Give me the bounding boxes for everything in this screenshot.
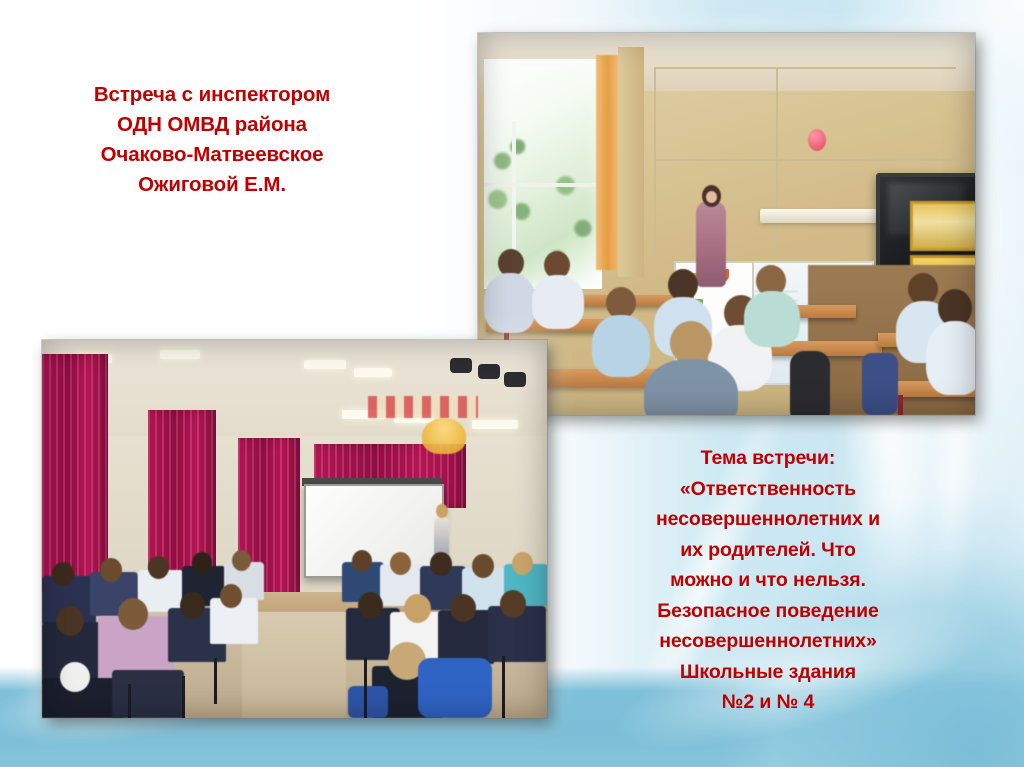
classroom-photo-content (478, 33, 975, 415)
meeting-title: Встреча с инспектором ОДН ОМВД района Оч… (22, 80, 402, 200)
meeting-topic-line-6: Безопасное поведение (558, 596, 978, 627)
meeting-title-line-1: Встреча с инспектором (22, 80, 402, 110)
meeting-title-line-3: Очаково-Матвеевское (22, 140, 402, 170)
auditorium-photo-content (42, 340, 547, 718)
meeting-topic-line-1: Тема встречи: (558, 443, 978, 474)
meeting-topic-line-3: несовершеннолетних и (558, 504, 978, 535)
classroom-photo (478, 33, 975, 415)
meeting-title-line-4: Ожиговой Е.М. (22, 170, 402, 200)
presentation-slide: Встреча с инспектором ОДН ОМВД района Оч… (0, 0, 1024, 767)
meeting-topic-line-2: «Ответственность (558, 474, 978, 505)
meeting-topic-line-4: их родителей. Что (558, 535, 978, 566)
meeting-topic-line-7: несовершеннолетних» (558, 626, 978, 657)
auditorium-photo (42, 340, 547, 718)
meeting-topic: Тема встречи: «Ответственность несоверше… (558, 443, 978, 718)
meeting-title-line-2: ОДН ОМВД района (22, 110, 402, 140)
meeting-topic-line-9: №2 и № 4 (558, 687, 978, 718)
meeting-topic-line-5: можно и что нельзя. (558, 565, 978, 596)
meeting-topic-line-8: Школьные здания (558, 657, 978, 688)
